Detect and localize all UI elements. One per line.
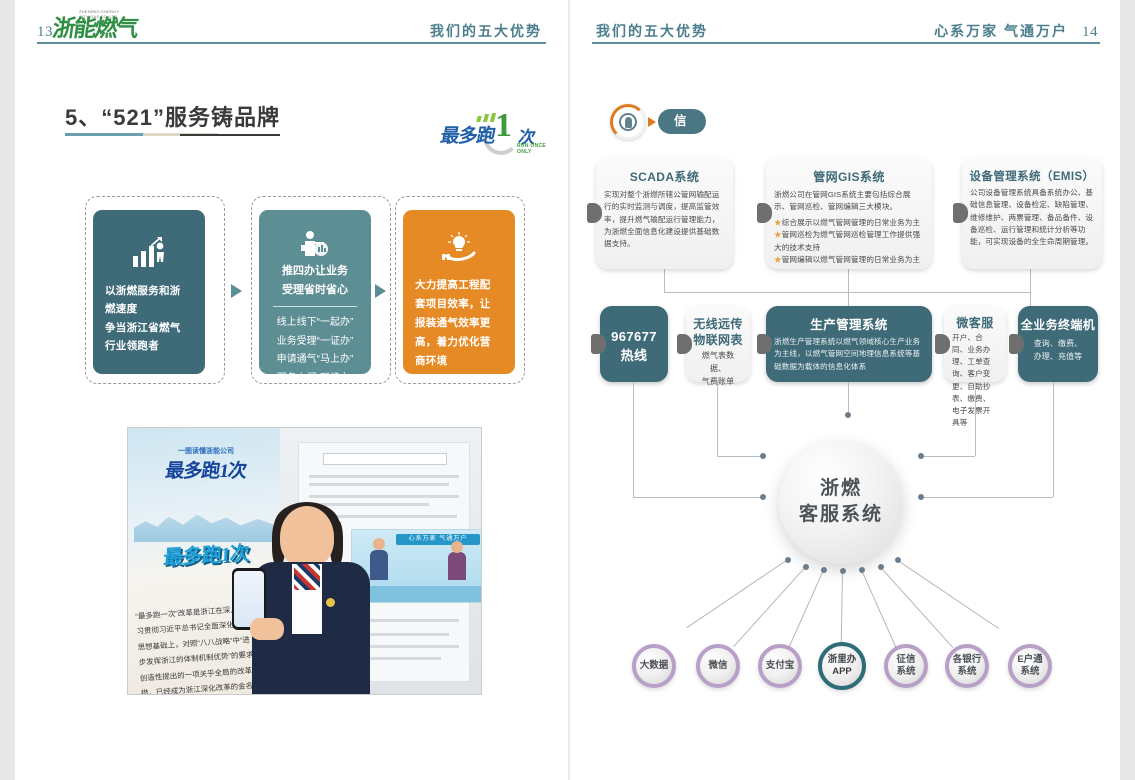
bottom-node-zheliban[interactable]: 浙里办 APP [818, 642, 866, 690]
spoke-dot-6 [878, 564, 884, 570]
hub-connector-v-top [848, 382, 849, 414]
touch-circle-icon [610, 104, 646, 140]
node-emis-title: 设备管理系统（EMIS） [962, 168, 1102, 184]
hub-connector-h-right2 [920, 456, 975, 457]
bottom-node-credit[interactable]: 征信 系统 [884, 644, 928, 688]
node-iot-meter[interactable]: 无线远传 物联网表 燃气表数据、 气费账单 [686, 306, 750, 382]
node-scada-title: SCADA系统 [596, 168, 733, 185]
node-gis[interactable]: 管网GIS系统 浙燃公司在管网GIS系统主要包括综合展示、管网巡检、管网编辑三大… [766, 157, 932, 269]
spoke-7 [897, 560, 999, 629]
node-scada-body: 实现对整个浙燃所辖公管网输配运行的实时监测与调度，提高监管效率，提升燃气输配运行… [596, 189, 733, 250]
node-full-terminal[interactable]: 全业务终端机 查询、缴费、 办理、充值等 [1018, 306, 1098, 382]
bottom-node-ehu[interactable]: E户通 系统 [1008, 644, 1052, 688]
hub-connector-v-left [633, 382, 634, 497]
hub-circle[interactable]: 浙燃客服系统 [779, 440, 903, 564]
hub-connector-h-left [633, 497, 763, 498]
hub-dot-top [845, 412, 851, 418]
node-gis-body: 浙燃公司在管网GIS系统主要包括综合展示、管网巡检、管网编辑三大模块。 [766, 189, 932, 214]
banner-arrow-icon [648, 117, 656, 127]
node-iot-body: 燃气表数据、 气费账单 [686, 350, 750, 389]
spoke-dot-5 [859, 567, 865, 573]
node-iot-title: 无线远传 物联网表 [686, 316, 750, 348]
spoke-dot-7 [895, 557, 901, 563]
node-emis[interactable]: 设备管理系统（EMIS） 公司设备管理系统具备系统办公、基础信息管理、设备检定、… [962, 157, 1102, 269]
node-wechat-title: 微客服 [944, 314, 1006, 331]
node-hotline-title: 967677 热线 [600, 328, 668, 366]
bottom-node-wechat[interactable]: 微信 [696, 644, 740, 688]
node-terminal-body: 查询、缴费、 办理、充值等 [1018, 338, 1098, 364]
connector-h2 [848, 292, 1030, 293]
connector-h1 [664, 292, 848, 293]
brochure-spread: 13 ZHENENG ENERGYCITY GAS CO. LTD 浙能燃气 我… [0, 0, 1135, 780]
connector-v4 [1030, 268, 1031, 306]
spoke-dot-2 [803, 564, 809, 570]
node-production-title: 生产管理系统 [766, 314, 932, 333]
node-hotline[interactable]: 967677 热线 [600, 306, 668, 382]
hub-connector-h-left2 [717, 456, 763, 457]
spoke-dot-4 [840, 568, 846, 574]
hub-dot-right-2 [918, 453, 924, 459]
spoke-1 [686, 559, 788, 628]
spoke-dot-1 [785, 557, 791, 563]
informatization-diagram: 信息化提升服务能力 SCADA系统 实现对整个浙燃所辖公管网输配运行的实时监测与… [0, 0, 1135, 780]
node-production[interactable]: 生产管理系统 浙燃生产管理系统以燃气领域核心生产业务为主线，以燃气管网空间地理信… [766, 306, 932, 382]
node-gis-bullets: ★综合展示以燃气管网管理的日常业务为主 ★管网巡检为燃气管网巡检管理工作提供强大… [766, 217, 932, 266]
connector-v2 [848, 268, 849, 292]
connector-v3 [848, 292, 849, 306]
node-terminal-title: 全业务终端机 [1018, 316, 1098, 333]
hub-dot-left-2 [760, 453, 766, 459]
node-production-body: 浙燃生产管理系统以燃气领域核心生产业务为主线，以燃气管网空间地理信息系统等基础数… [766, 336, 932, 373]
hub-connector-v-left2 [717, 382, 718, 456]
node-gis-title: 管网GIS系统 [766, 168, 932, 185]
hub-dot-right-1 [918, 494, 924, 500]
spoke-dot-3 [821, 567, 827, 573]
connector-v1 [664, 268, 665, 292]
bottom-node-alipay[interactable]: 支付宝 [758, 644, 802, 688]
hub-label: 浙燃客服系统 [799, 476, 883, 527]
hub-connector-v-right [1053, 382, 1054, 497]
hub-connector-v-right2 [975, 382, 976, 456]
spoke-4 [841, 571, 843, 643]
bottom-node-bigdata[interactable]: 大数据 [632, 644, 676, 688]
spoke-2 [733, 566, 806, 647]
bottom-node-banks[interactable]: 各银行 系统 [945, 644, 989, 688]
banner-label: 信息化提升服务能力 [658, 109, 706, 134]
node-wechat-service[interactable]: 微客服 开户、合同、业务办理、工单查询、客户变更、自助抄表、缴费、电子发票开具等 [944, 306, 1006, 382]
node-emis-body: 公司设备管理系统具备系统办公、基础信息管理、设备检定、缺陷管理、维修维护、两票管… [962, 187, 1102, 248]
node-scada[interactable]: SCADA系统 实现对整个浙燃所辖公管网输配运行的实时监测与调度，提高监管效率，… [596, 157, 733, 269]
hub-dot-left-1 [760, 494, 766, 500]
hub-connector-h-right [920, 497, 1053, 498]
